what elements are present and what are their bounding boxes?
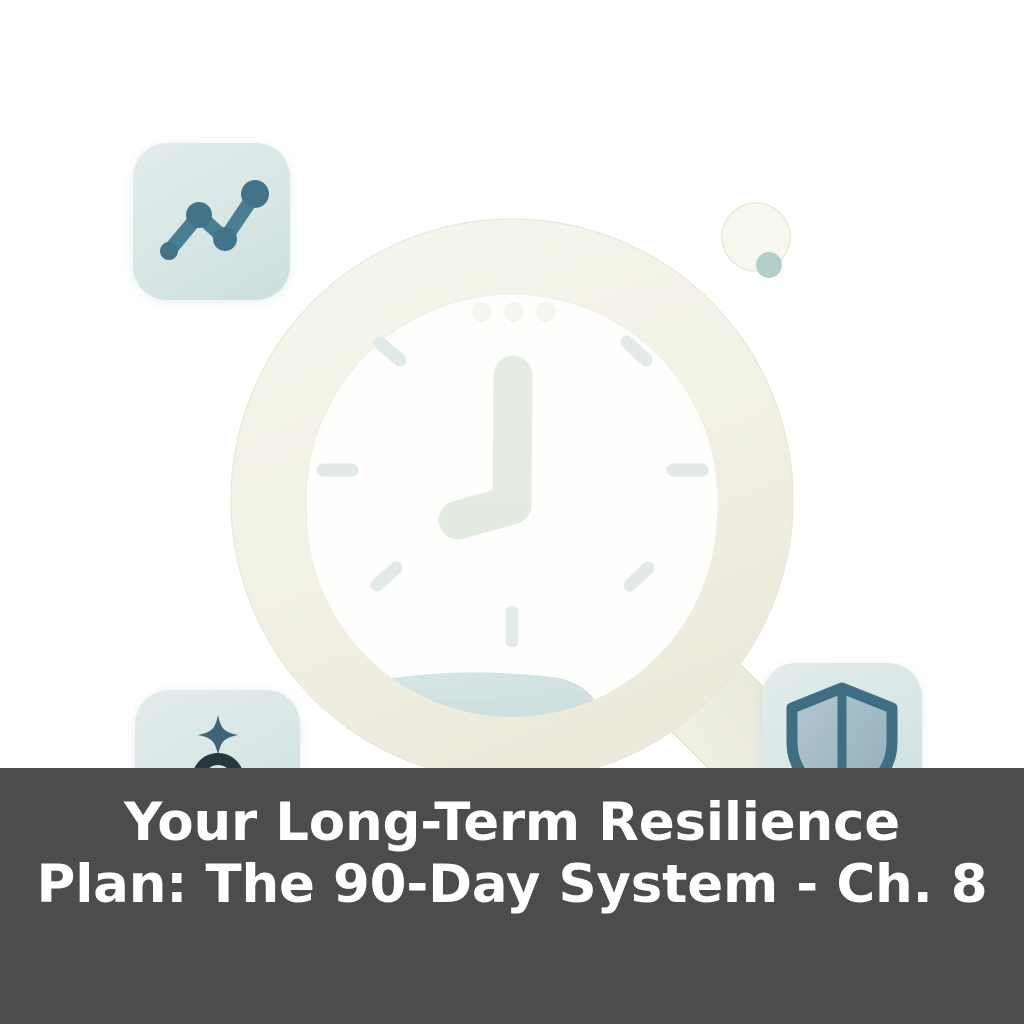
line-chart-icon: [147, 157, 277, 287]
cover-canvas: Your Long-Term Resilience Plan: The 90-D…: [0, 0, 1024, 1024]
line-chart-tile[interactable]: [133, 143, 290, 300]
small-magnifier-glyph: [722, 203, 790, 278]
clock-brand-dots: [473, 303, 555, 321]
caption-line-1: Your Long-Term Resilience: [124, 792, 900, 854]
plus-sparkle-icon: [198, 715, 238, 755]
caption-line-2: Plan: The 90-Day System - Ch. 8: [37, 854, 988, 916]
caption-bar: Your Long-Term Resilience Plan: The 90-D…: [0, 768, 1024, 1024]
